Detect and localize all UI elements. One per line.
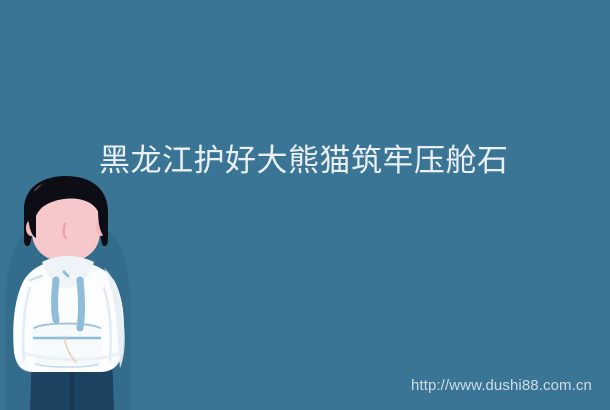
site-watermark-url: http://www.dushi88.com.cn: [411, 377, 592, 395]
person-illustration: [0, 176, 150, 410]
page-title: 黑龙江护好大熊猫筑牢压舱石: [99, 142, 529, 180]
article-banner: 黑龙江护好大熊猫筑牢压舱石 http://www.dushi88.com.cn: [0, 0, 610, 410]
